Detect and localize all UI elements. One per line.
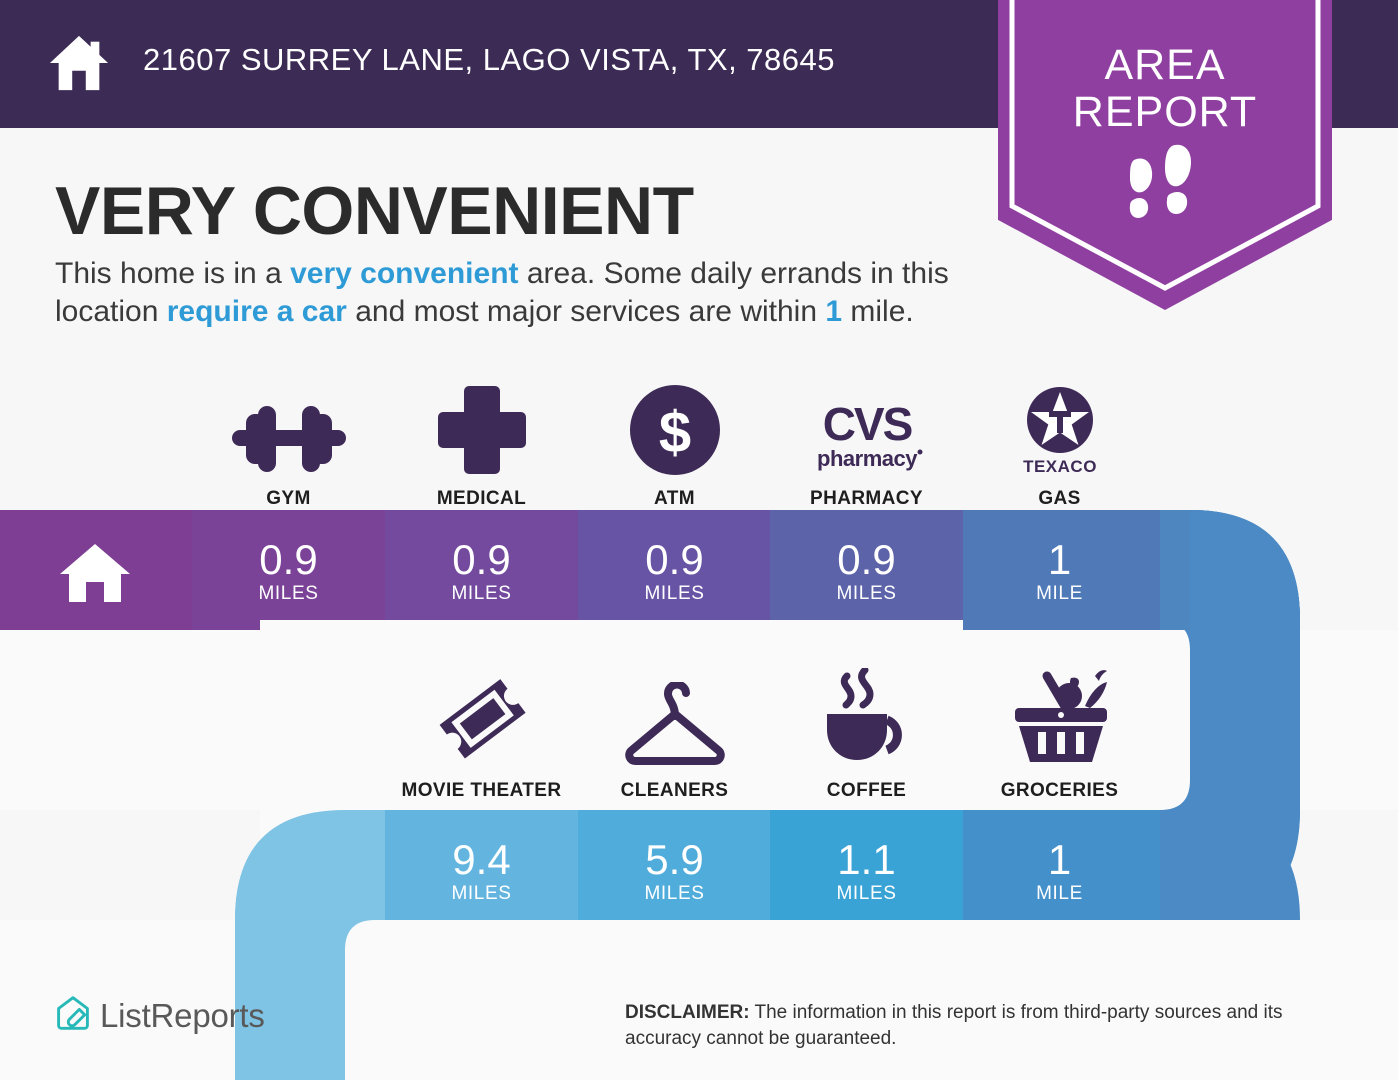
distance-unit: MILE: [963, 882, 1156, 906]
distance-medical: 0.9 MILES: [385, 538, 578, 606]
subtitle-highlight-2: require a car: [167, 295, 347, 328]
movie-ticket-icon: [385, 672, 578, 768]
icon-label: GYM: [192, 488, 385, 510]
distance-unit: MILES: [770, 582, 963, 606]
subtitle-text-1: This home is in a: [55, 257, 290, 290]
icon-cell-movie-theater[interactable]: MOVIE THEATER: [385, 672, 578, 802]
grocery-basket-icon: [963, 672, 1156, 768]
texaco-logo: TEXACO: [963, 380, 1156, 476]
distance-unit: MILES: [578, 582, 771, 606]
badge-line1: AREA: [998, 42, 1332, 89]
distance-value: 0.9: [770, 538, 963, 582]
icon-cell-groceries[interactable]: GROCERIES: [963, 672, 1156, 802]
segment-gas-turn: [1160, 510, 1190, 630]
icon-cell-gas[interactable]: TEXACO GAS: [963, 380, 1156, 510]
svg-text:CVS: CVS: [822, 398, 911, 450]
distance-value: 1.1: [770, 838, 963, 882]
distance-value: 0.9: [192, 538, 385, 582]
icon-label: MOVIE THEATER: [385, 780, 578, 802]
disclaimer-label: DISCLAIMER:: [625, 1002, 750, 1023]
footprints-icon: [1120, 142, 1212, 224]
coat-hanger-icon: [578, 672, 771, 768]
cvs-pharmacy-logo: CVS pharmacy: [770, 380, 963, 476]
property-address: 21607 SURREY LANE, LAGO VISTA, TX, 78645: [143, 42, 835, 78]
icon-label: ATM: [578, 488, 771, 510]
icon-cell-medical[interactable]: MEDICAL: [385, 380, 578, 510]
coffee-cup-icon: [770, 672, 963, 768]
distance-value: 0.9: [385, 538, 578, 582]
subtitle-text-3: and most major services are within: [347, 295, 826, 328]
page-subtitle: This home is in a very convenient area. …: [55, 255, 995, 331]
icon-label: GROCERIES: [963, 780, 1156, 802]
distance-unit: MILE: [963, 582, 1156, 606]
distance-value: 1: [963, 838, 1156, 882]
distance-value: 5.9: [578, 838, 771, 882]
distance-coffee: 1.1 MILES: [770, 838, 963, 906]
icon-label: CLEANERS: [578, 780, 771, 802]
distance-value: 9.4: [385, 838, 578, 882]
row1-icons: GYM MEDICAL $ ATM CVS pharmacy PHARMACY: [0, 380, 1398, 500]
subtitle-text-4: mile.: [842, 295, 914, 328]
brand-name: ListReports: [100, 997, 265, 1035]
icon-label: GAS: [963, 488, 1156, 510]
medical-cross-icon: [385, 380, 578, 476]
house-icon-track: [58, 542, 132, 604]
badge-title: AREA REPORT: [998, 42, 1332, 136]
svg-text:TEXACO: TEXACO: [1023, 457, 1097, 476]
distance-gas: 1 MILE: [963, 538, 1156, 606]
svg-text:$: $: [658, 400, 690, 465]
subtitle-highlight-3: 1: [825, 295, 842, 328]
listreports-house-icon: [55, 995, 91, 1031]
distance-cleaners: 5.9 MILES: [578, 838, 771, 906]
icon-label: COFFEE: [770, 780, 963, 802]
distance-unit: MILES: [385, 882, 578, 906]
dollar-circle-icon: $: [578, 380, 771, 476]
distance-value: 0.9: [578, 538, 771, 582]
distance-unit: MILES: [192, 582, 385, 606]
icon-cell-cleaners[interactable]: CLEANERS: [578, 672, 771, 802]
icon-cell-pharmacy[interactable]: CVS pharmacy PHARMACY: [770, 380, 963, 510]
disclaimer: DISCLAIMER: The information in this repo…: [625, 1000, 1345, 1052]
icon-cell-atm[interactable]: $ ATM: [578, 380, 771, 510]
house-icon: [48, 32, 110, 94]
row2-icons: MOVIE THEATER CLEANERS COFFEE: [0, 672, 1398, 792]
distance-pharmacy: 0.9 MILES: [770, 538, 963, 606]
distance-atm: 0.9 MILES: [578, 538, 771, 606]
icon-label: MEDICAL: [385, 488, 578, 510]
icon-label: PHARMACY: [770, 488, 963, 510]
subtitle-highlight-1: very convenient: [290, 257, 518, 290]
dumbbell-icon: [192, 380, 385, 476]
distance-unit: MILES: [385, 582, 578, 606]
distance-unit: MILES: [578, 882, 771, 906]
page-title: VERY CONVENIENT: [55, 172, 694, 250]
svg-text:pharmacy: pharmacy: [817, 446, 918, 471]
distance-movie-theater: 9.4 MILES: [385, 838, 578, 906]
distance-groceries: 1 MILE: [963, 838, 1156, 906]
icon-cell-coffee[interactable]: COFFEE: [770, 672, 963, 802]
distance-unit: MILES: [770, 882, 963, 906]
icon-cell-gym[interactable]: GYM: [192, 380, 385, 510]
badge-line2: REPORT: [998, 89, 1332, 136]
distance-gym: 0.9 MILES: [192, 538, 385, 606]
distance-value: 1: [963, 538, 1156, 582]
